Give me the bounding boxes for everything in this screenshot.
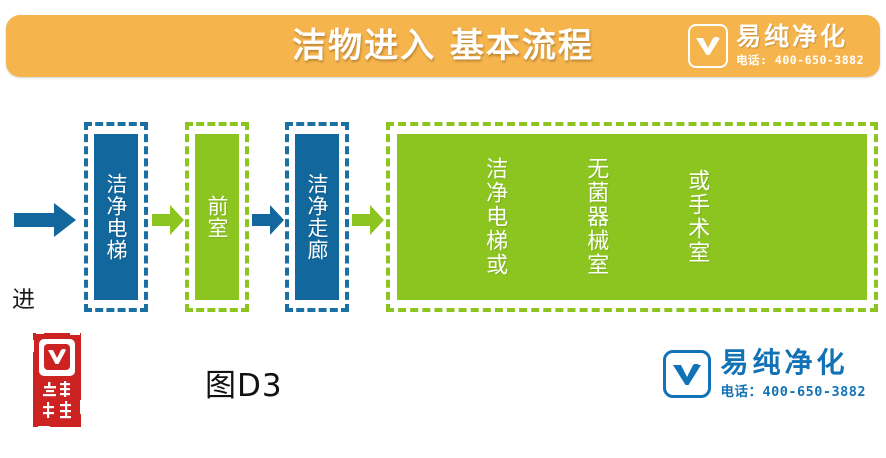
step-1-label: 洁净电梯 (105, 173, 127, 261)
yichun-w-mark-icon (663, 350, 711, 398)
entry-label: 进 (12, 280, 35, 314)
step-2-box[interactable]: 前室 (195, 134, 239, 300)
arrow-2-icon (252, 205, 284, 235)
arrow-3-icon (352, 205, 384, 235)
step-1-box[interactable]: 洁净电梯 (94, 134, 138, 300)
red-seal-stamp-icon (30, 330, 84, 430)
header-logo-name: 易纯净化 (736, 24, 848, 50)
flow-diagram: 进 洁净电梯 前室 洁净走廊 洁净电梯或 无菌器械室 或手术室 (0, 110, 886, 320)
footer-logo: 易纯净化 电话：400-650-3882 (663, 348, 866, 400)
footer-logo-name: 易纯净化 (720, 348, 848, 377)
header-banner: 洁物进入 基本流程 易纯净化 电话: 400-650-3882 (6, 15, 880, 77)
step-3-box[interactable]: 洁净走廊 (295, 134, 339, 300)
final-column-2: 无菌器械室 (584, 157, 607, 277)
arrow-1-icon (152, 205, 184, 235)
step-3-label: 洁净走廊 (306, 173, 328, 261)
final-column-1: 洁净电梯或 (483, 157, 506, 277)
step-2-label: 前室 (206, 195, 228, 239)
header-logo-phone: 电话: 400-650-3882 (736, 52, 864, 68)
final-column-3: 或手术室 (685, 169, 708, 265)
entry-arrow-icon (14, 203, 76, 237)
header-logo: 易纯净化 电话: 400-650-3882 (688, 21, 864, 71)
footer-logo-phone: 电话：400-650-3882 (720, 380, 866, 400)
figure-caption: 图D3 (205, 360, 283, 405)
yichun-w-mark-icon (688, 24, 728, 68)
final-panel-box[interactable]: 洁净电梯或 无菌器械室 或手术室 (397, 134, 867, 300)
